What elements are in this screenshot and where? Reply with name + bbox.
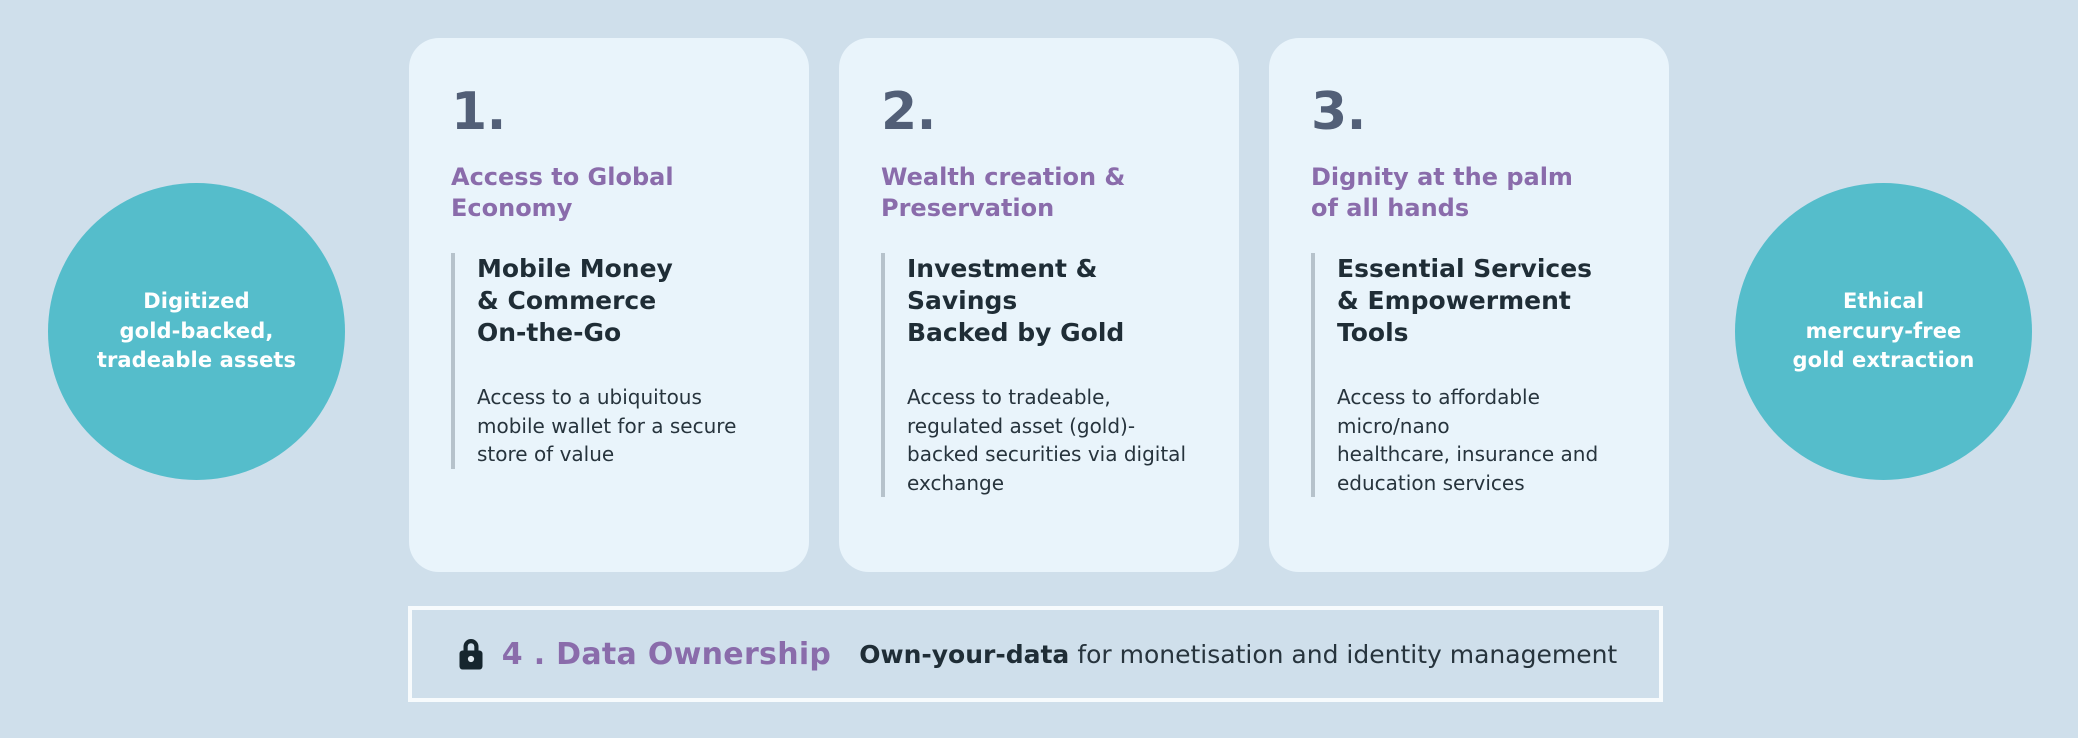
digitized-assets-circle: Digitized gold-backed, tradeable assets [48,183,345,480]
card-1-heading: Mobile Money & Commerce On-the-Go [477,253,767,349]
pillar-cards-row: 1. Access to Global Economy Mobile Money… [409,38,1669,572]
card-2-description: Access to tradeable, regulated asset (go… [907,383,1197,497]
card-2-body: Investment & Savings Backed by Gold Acce… [881,253,1197,497]
card-2-heading: Investment & Savings Backed by Gold [907,253,1197,349]
card-3-description: Access to affordable micro/nano healthca… [1337,383,1627,497]
card-3-heading: Essential Services & Empowerment Tools [1337,253,1627,349]
digitized-assets-circle-label: Digitized gold-backed, tradeable assets [97,287,296,376]
card-3-subtitle: Dignity at the palm of all hands [1311,162,1581,223]
data-ownership-text: Own-your-data for monetisation and ident… [859,640,1617,669]
data-ownership-number-label: 4 . Data Ownership [502,637,831,672]
card-1-number: 1. [451,86,767,138]
infographic-stage: Digitized gold-backed, tradeable assets … [0,0,2078,738]
data-ownership-bar[interactable]: 4 . Data Ownership Own-your-data for mon… [408,606,1663,702]
card-1-description: Access to a ubiquitous mobile wallet for… [477,383,767,468]
pillar-card-2[interactable]: 2. Wealth creation & Preservation Invest… [839,38,1239,572]
ethical-extraction-circle-label: Ethical mercury-free gold extraction [1793,287,1975,376]
data-ownership-strong-text: Own-your-data [859,640,1069,669]
card-1-subtitle: Access to Global Economy [451,162,721,223]
ethical-extraction-circle: Ethical mercury-free gold extraction [1735,183,2032,480]
card-2-subtitle: Wealth creation & Preservation [881,162,1151,223]
card-1-body: Mobile Money & Commerce On-the-Go Access… [451,253,767,468]
pillar-card-3[interactable]: 3. Dignity at the palm of all hands Esse… [1269,38,1669,572]
lock-icon [454,635,488,673]
pillar-card-1[interactable]: 1. Access to Global Economy Mobile Money… [409,38,809,572]
card-2-number: 2. [881,86,1197,138]
card-3-number: 3. [1311,86,1627,138]
card-3-body: Essential Services & Empowerment Tools A… [1311,253,1627,497]
data-ownership-rest-text: for monetisation and identity management [1077,640,1617,669]
